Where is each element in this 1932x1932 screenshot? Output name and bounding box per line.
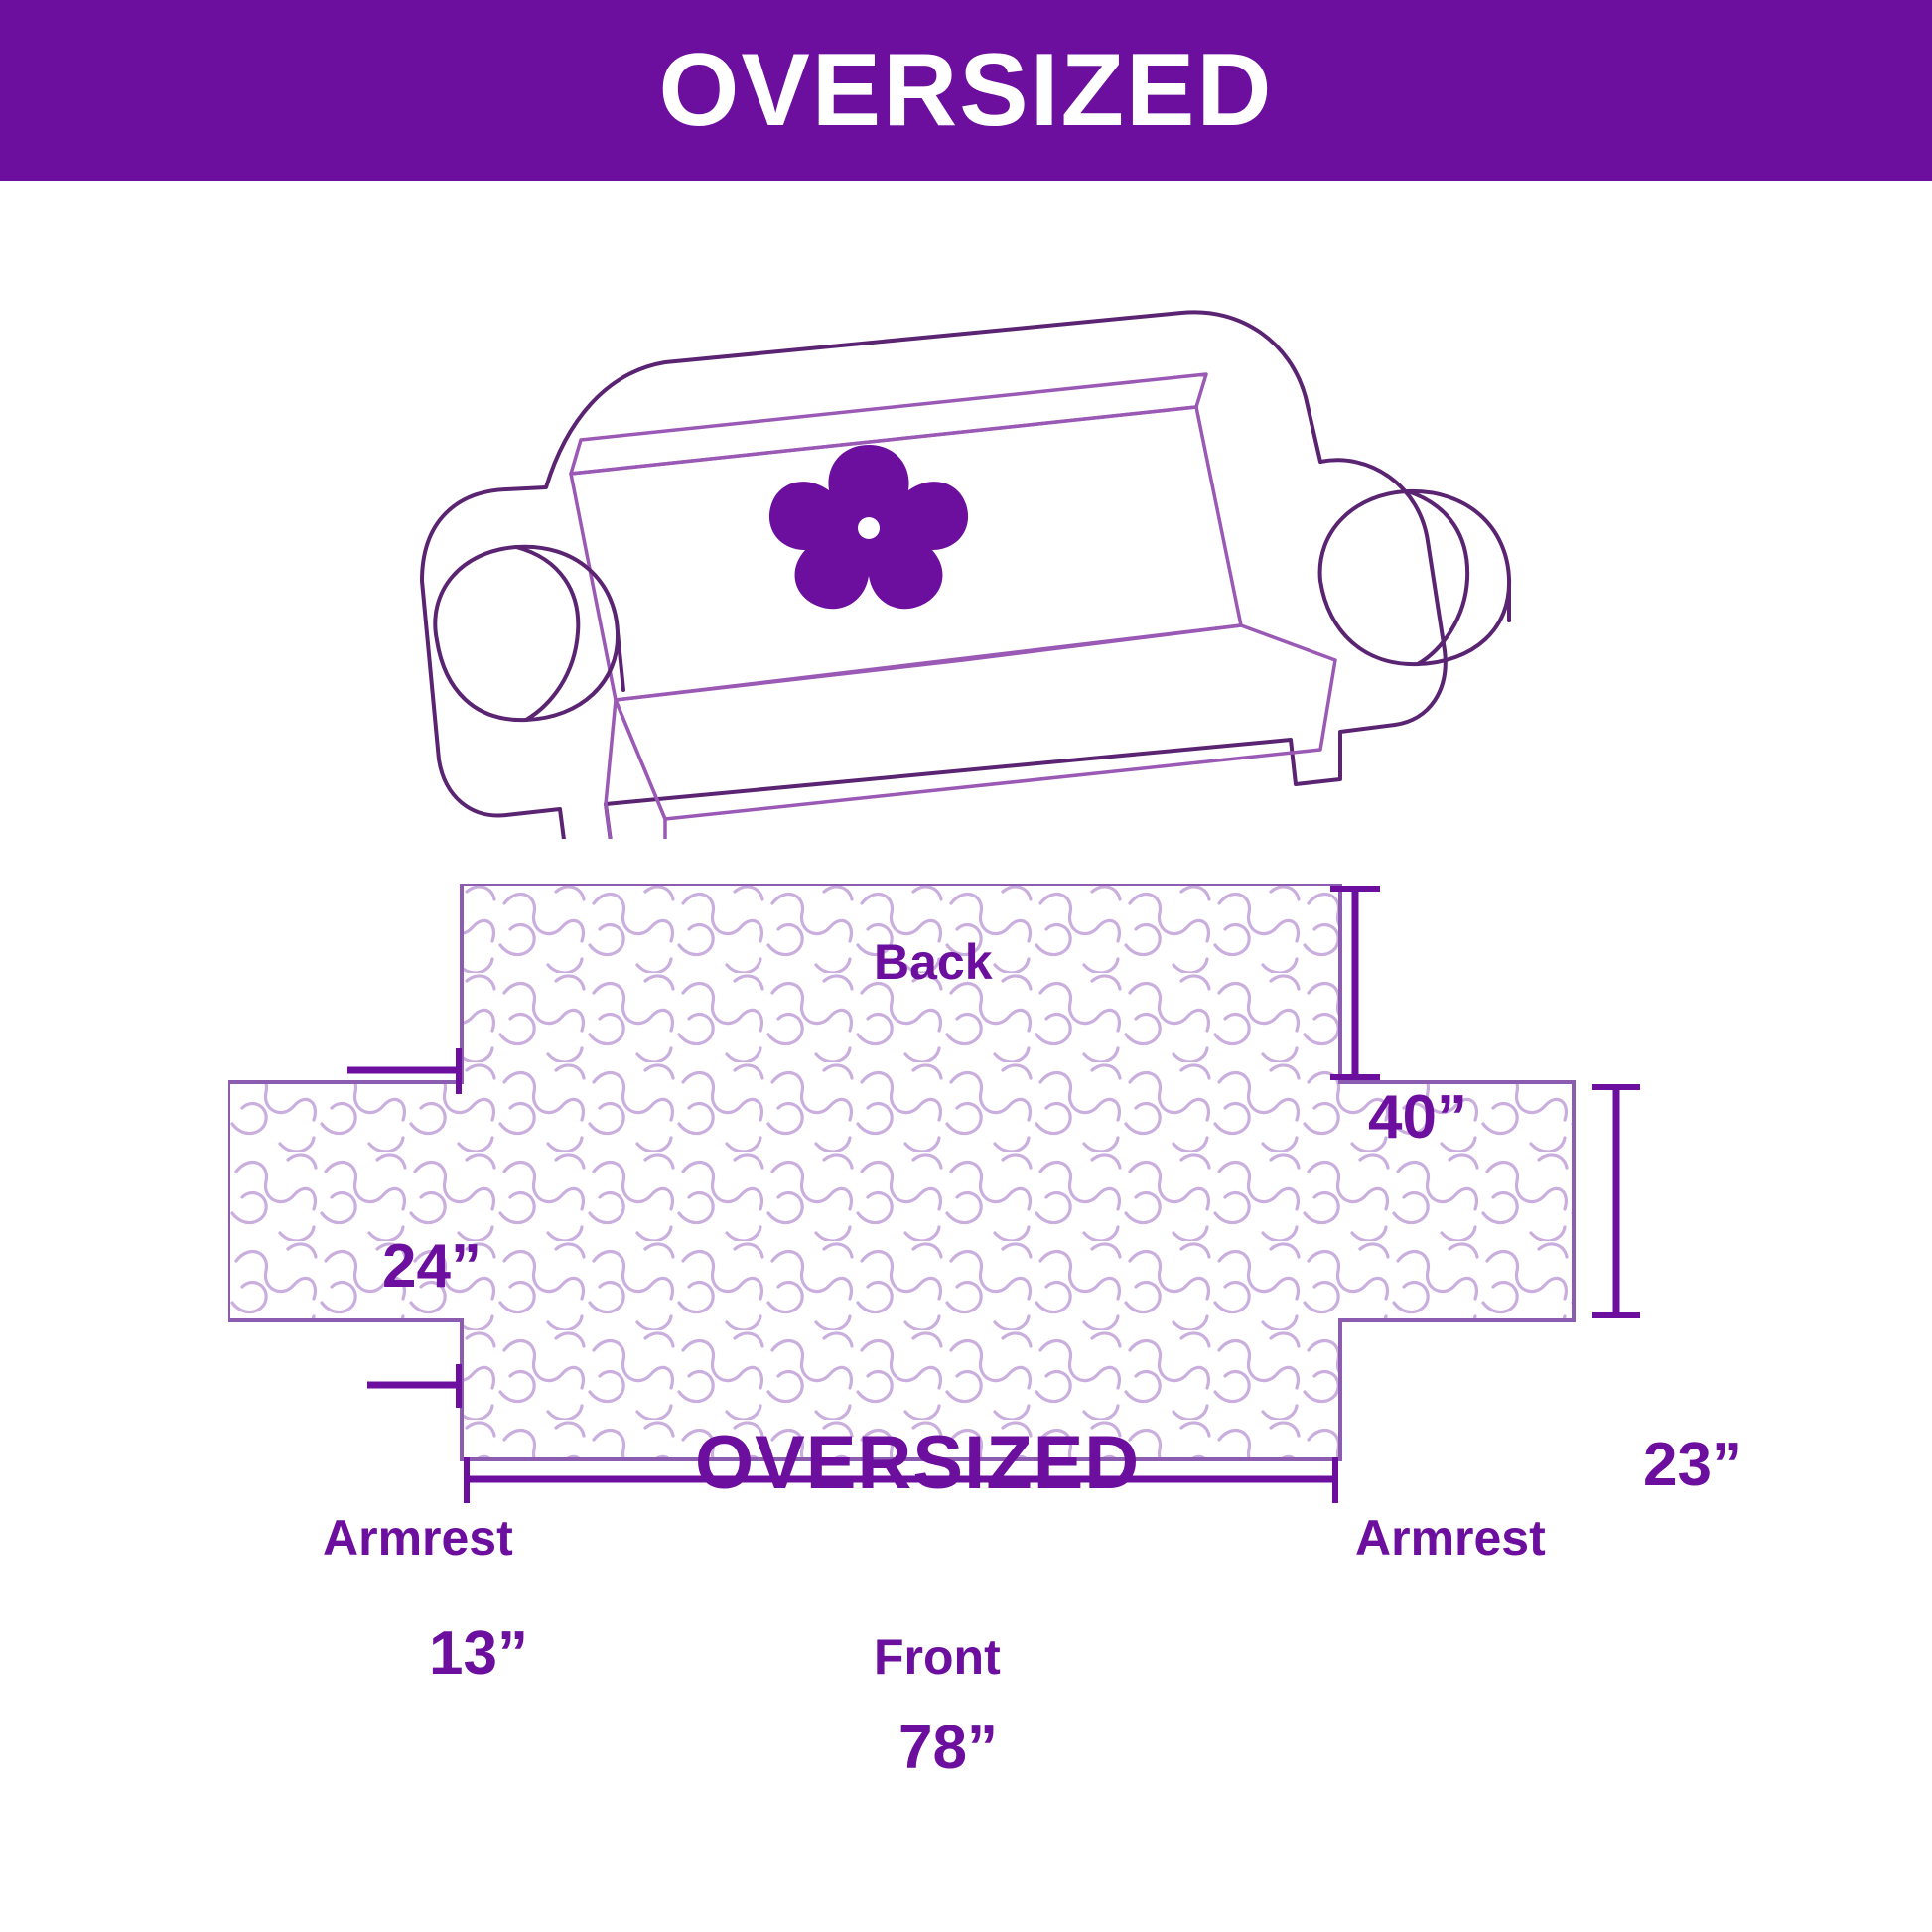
page-title: OVERSIZED	[659, 39, 1274, 142]
pinwheel-flower-icon	[769, 445, 968, 609]
label-armrest-left: Armrest	[323, 1509, 513, 1567]
dimension-13	[367, 1364, 459, 1408]
dimension-label-seat-width: 78”	[898, 1713, 998, 1783]
cover-center-label: OVERSIZED	[695, 1420, 1140, 1506]
label-front: Front	[874, 1628, 1001, 1686]
dimension-label-back-left-offset: 24”	[382, 1231, 482, 1302]
label-armrest-right: Armrest	[1355, 1509, 1546, 1567]
dimension-label-front-drop: 13”	[429, 1618, 528, 1689]
dimension-label-back-height: 40”	[1368, 1082, 1467, 1153]
dimension-23	[1592, 1087, 1640, 1315]
sofa-illustration: .ln { fill:none; stroke:#5a2472; stroke-…	[367, 223, 1588, 839]
label-back: Back	[874, 933, 993, 991]
header-banner: OVERSIZED	[0, 0, 1932, 181]
dimension-label-armrest-height: 23”	[1643, 1430, 1742, 1500]
